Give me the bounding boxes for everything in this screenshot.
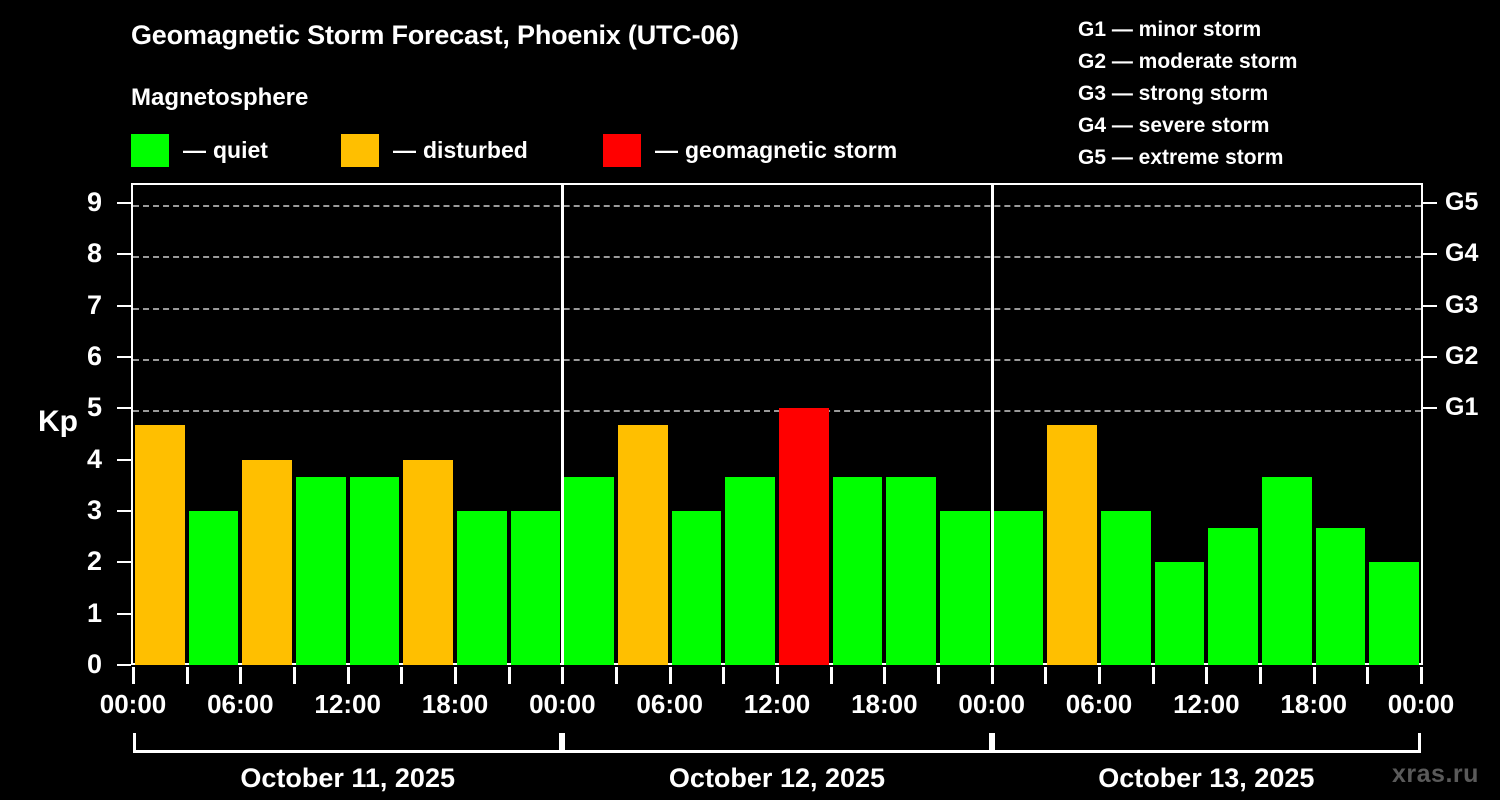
g-tick-mark-G5 (1423, 202, 1437, 204)
x-tick-label-1: 06:00 (180, 691, 300, 717)
y-axis-title: Kp (38, 405, 78, 439)
day-divider-2 (991, 185, 994, 663)
legend-storm-swatch-icon (603, 134, 641, 167)
x-tick-23 (1366, 667, 1369, 684)
x-tick-22 (1313, 667, 1316, 684)
x-tick-label-8: 00:00 (932, 691, 1052, 717)
page-title: Geomagnetic Storm Forecast, Phoenix (UTC… (131, 20, 739, 51)
gscale-row-g2: G2 — moderate storm (1078, 46, 1408, 78)
day-bracket-1 (133, 733, 562, 753)
legend-disturbed-swatch-icon (341, 134, 379, 167)
x-tick-label-11: 18:00 (1254, 691, 1374, 717)
y-tick-label-4: 4 (60, 446, 102, 473)
x-tick-10 (669, 667, 672, 684)
x-tick-13 (830, 667, 833, 684)
g-tick-label-G1: G1 (1445, 395, 1500, 420)
x-tick-19 (1152, 667, 1155, 684)
y-tick-mark-2 (117, 561, 131, 563)
x-tick-16 (991, 667, 994, 684)
x-tick-12 (776, 667, 779, 684)
x-tick-label-0: 00:00 (73, 691, 193, 717)
y-tick-mark-3 (117, 510, 131, 512)
x-tick-label-5: 06:00 (610, 691, 730, 717)
y-tick-label-9: 9 (60, 189, 102, 216)
geomagnetic-forecast-chart: Geomagnetic Storm Forecast, Phoenix (UTC… (0, 0, 1500, 800)
y-tick-mark-4 (117, 459, 131, 461)
x-tick-20 (1205, 667, 1208, 684)
legend-dash: — (183, 139, 206, 162)
legend-disturbed[interactable]: —disturbed (341, 131, 528, 169)
gscale-row-g3: G3 — strong storm (1078, 78, 1408, 110)
x-tick-21 (1259, 667, 1262, 684)
x-tick-label-10: 12:00 (1146, 691, 1266, 717)
x-tick-11 (722, 667, 725, 684)
y-tick-mark-1 (117, 613, 131, 615)
legend-storm[interactable]: —geomagnetic storm (603, 131, 897, 169)
g-tick-label-G4: G4 (1445, 241, 1500, 266)
x-tick-24 (1420, 667, 1423, 684)
chart-subtitle: Magnetosphere (131, 84, 308, 112)
day-bracket-3 (992, 733, 1421, 753)
x-tick-6 (454, 667, 457, 684)
x-tick-4 (347, 667, 350, 684)
y-tick-mark-8 (117, 253, 131, 255)
legend-storm-label: geomagnetic storm (685, 139, 897, 162)
x-tick-3 (293, 667, 296, 684)
x-tick-7 (508, 667, 511, 684)
y-tick-label-6: 6 (60, 343, 102, 370)
gscale-legend: G1 — minor stormG2 — moderate stormG3 — … (1078, 14, 1408, 174)
x-tick-8 (561, 667, 564, 684)
legend-quiet-swatch-icon (131, 134, 169, 167)
y-tick-mark-9 (117, 202, 131, 204)
x-tick-label-9: 06:00 (1039, 691, 1159, 717)
y-tick-label-1: 1 (60, 600, 102, 627)
y-tick-mark-6 (117, 356, 131, 358)
x-tick-18 (1098, 667, 1101, 684)
g-tick-label-G2: G2 (1445, 344, 1500, 369)
x-tick-1 (186, 667, 189, 684)
legend-dash: — (655, 139, 678, 162)
day-divider-1 (561, 185, 564, 663)
gscale-row-g5: G5 — extreme storm (1078, 142, 1408, 174)
x-tick-label-6: 12:00 (717, 691, 837, 717)
day-dividers (133, 185, 1421, 663)
x-tick-label-7: 18:00 (824, 691, 944, 717)
x-tick-14 (883, 667, 886, 684)
g-tick-mark-G4 (1423, 253, 1437, 255)
legend-quiet-label: quiet (213, 139, 268, 162)
legend-dash: — (393, 139, 416, 162)
y-tick-label-8: 8 (60, 240, 102, 267)
day-bracket-2 (562, 733, 991, 753)
x-tick-label-2: 12:00 (288, 691, 408, 717)
day-label-1: October 11, 2025 (133, 765, 562, 792)
x-tick-9 (615, 667, 618, 684)
day-label-2: October 12, 2025 (562, 765, 991, 792)
g-tick-label-G3: G3 (1445, 293, 1500, 318)
legend-quiet[interactable]: —quiet (131, 131, 268, 169)
legend-disturbed-label: disturbed (423, 139, 528, 162)
y-tick-mark-7 (117, 305, 131, 307)
x-tick-5 (400, 667, 403, 684)
g-tick-mark-G2 (1423, 356, 1437, 358)
day-label-3: October 13, 2025 (992, 765, 1421, 792)
y-tick-mark-0 (117, 664, 131, 666)
g-tick-mark-G1 (1423, 407, 1437, 409)
x-tick-0 (132, 667, 135, 684)
x-tick-15 (937, 667, 940, 684)
x-tick-label-4: 00:00 (502, 691, 622, 717)
watermark: xras.ru (1392, 760, 1479, 789)
gscale-row-g1: G1 — minor storm (1078, 14, 1408, 46)
x-tick-2 (239, 667, 242, 684)
y-tick-label-7: 7 (60, 292, 102, 319)
y-tick-label-0: 0 (60, 651, 102, 678)
gscale-row-g4: G4 — severe storm (1078, 110, 1408, 142)
g-tick-mark-G3 (1423, 305, 1437, 307)
g-tick-label-G5: G5 (1445, 190, 1500, 215)
x-tick-label-3: 18:00 (395, 691, 515, 717)
y-tick-mark-5 (117, 407, 131, 409)
y-tick-label-3: 3 (60, 497, 102, 524)
x-tick-label-12: 00:00 (1361, 691, 1481, 717)
y-tick-label-2: 2 (60, 548, 102, 575)
plot-area (131, 183, 1423, 665)
x-tick-17 (1044, 667, 1047, 684)
